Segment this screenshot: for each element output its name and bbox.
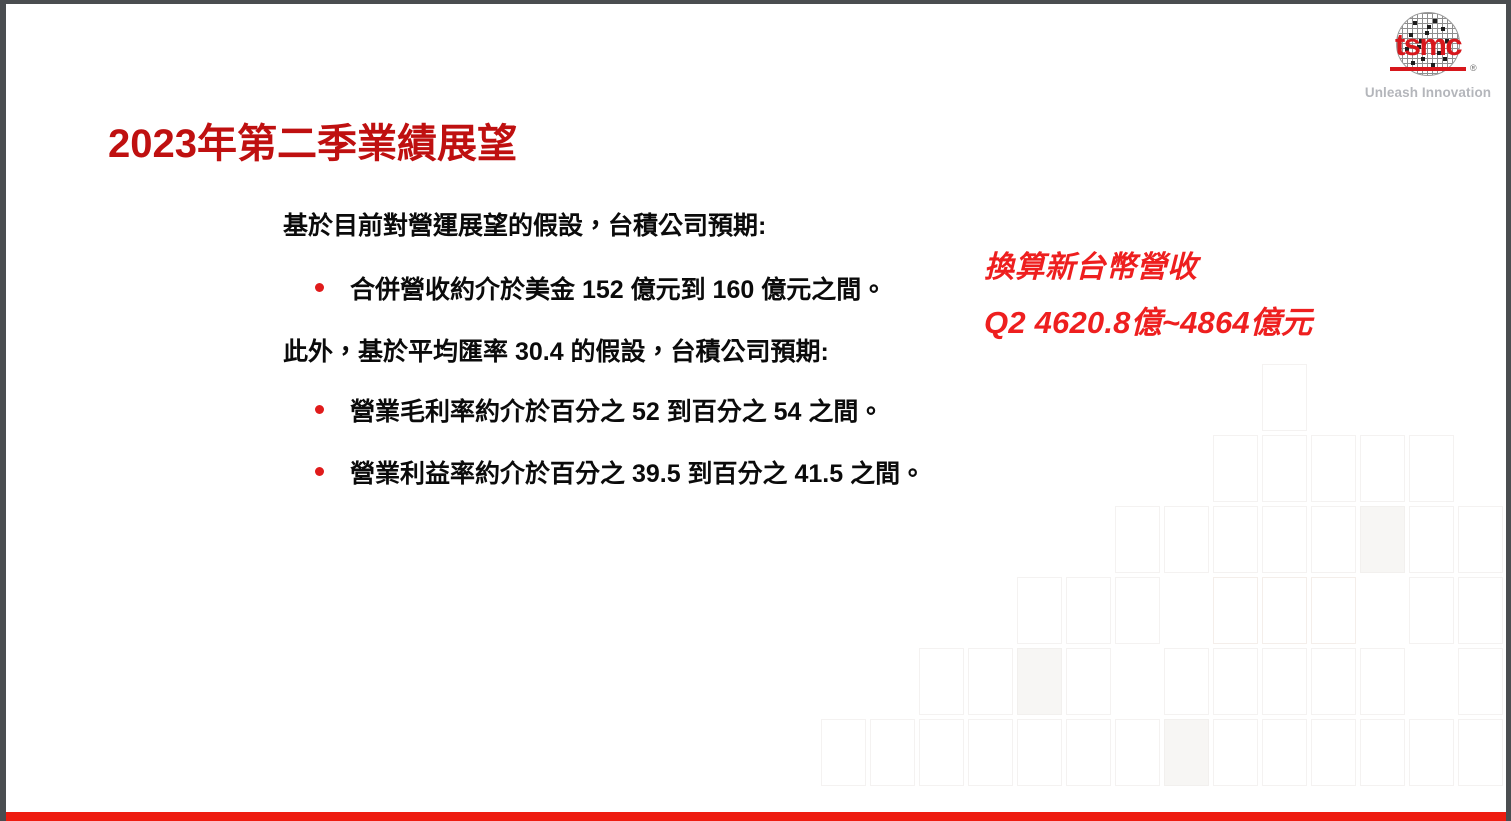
- pattern-cell: [1115, 719, 1160, 786]
- slide-body: 基於目前對營運展望的假設，台積公司預期: 合併營收約介於美金 152 億元到 1…: [283, 209, 983, 491]
- pattern-cell: [1458, 719, 1503, 786]
- pattern-cell: [1458, 648, 1503, 715]
- bullet-dot-icon: [315, 467, 324, 476]
- bullet-item-revenue: 合併營收約介於美金 152 億元到 160 億元之間。: [283, 273, 983, 307]
- logo-underline-rule: [1390, 67, 1466, 71]
- pattern-cell: [1164, 719, 1209, 786]
- pattern-cell: [919, 719, 964, 786]
- presentation-slide: tsmc ® Unleash Innovation 2023年第二季業績展望 基…: [0, 0, 1511, 821]
- pattern-cell: [1213, 435, 1258, 502]
- pattern-cell: [968, 648, 1013, 715]
- intro-paragraph-1: 基於目前對營運展望的假設，台積公司預期:: [283, 209, 983, 243]
- pattern-cell: [1115, 506, 1160, 573]
- bullet-dot-icon: [315, 405, 324, 414]
- pattern-cell: [1311, 435, 1356, 502]
- pattern-cell: [1262, 506, 1307, 573]
- pattern-cell: [1164, 506, 1209, 573]
- wafer-die-mark: [1413, 21, 1417, 25]
- pattern-cell: [1311, 506, 1356, 573]
- pattern-cell: [1409, 506, 1454, 573]
- pattern-cell: [870, 719, 915, 786]
- pattern-cell: [1066, 719, 1111, 786]
- pattern-cell: [1311, 648, 1356, 715]
- pattern-cell: [1066, 577, 1111, 644]
- tsmc-logo: tsmc ® Unleash Innovation: [1362, 12, 1494, 100]
- pattern-cell: [1213, 648, 1258, 715]
- pattern-cell: [968, 719, 1013, 786]
- pattern-cell: [1017, 577, 1062, 644]
- logo-wordmark: tsmc: [1369, 29, 1487, 60]
- annotation-line-1: 換算新台幣營收: [984, 247, 1312, 289]
- bullet-item-label: 營業毛利率約介於百分之 52 到百分之 54 之間。: [350, 395, 883, 429]
- registered-trademark-icon: ®: [1470, 64, 1477, 73]
- bottom-accent-bar: [6, 812, 1506, 821]
- pattern-cell: [1458, 506, 1503, 573]
- logo-tagline: Unleash Innovation: [1362, 85, 1494, 100]
- pattern-cell: [1262, 364, 1307, 431]
- pattern-cell: [1066, 648, 1111, 715]
- pattern-cell: [1409, 719, 1454, 786]
- bullet-dot-icon: [315, 283, 324, 292]
- slide-title: 2023年第二季業績展望: [108, 111, 517, 169]
- annotation-line-2: Q2 4620.8億~4864億元: [984, 302, 1312, 344]
- pattern-cell: [1262, 577, 1307, 644]
- intro-paragraph-2: 此外，基於平均匯率 30.4 的假設，台積公司預期:: [283, 335, 983, 369]
- wafer-die-mark: [1433, 19, 1437, 23]
- pattern-cell: [919, 648, 964, 715]
- pattern-cell: [1262, 648, 1307, 715]
- pattern-cell: [1311, 577, 1356, 644]
- red-annotation-note: 換算新台幣營收 Q2 4620.8億~4864億元: [984, 247, 1312, 344]
- pattern-cell: [1409, 435, 1454, 502]
- pattern-cell: [821, 719, 866, 786]
- bullet-item-operating-margin: 營業利益率約介於百分之 39.5 到百分之 41.5 之間。: [283, 457, 983, 491]
- pattern-cell: [1213, 719, 1258, 786]
- logo-mark: tsmc ®: [1369, 12, 1487, 84]
- pattern-cell: [1017, 719, 1062, 786]
- pattern-cell: [1360, 648, 1405, 715]
- pattern-cell: [1409, 577, 1454, 644]
- pattern-cell: [1115, 577, 1160, 644]
- pattern-cell: [1213, 506, 1258, 573]
- pattern-cell: [1458, 577, 1503, 644]
- pattern-cell: [1213, 577, 1258, 644]
- bullet-item-label: 營業利益率約介於百分之 39.5 到百分之 41.5 之間。: [350, 457, 925, 491]
- pattern-cell: [1360, 435, 1405, 502]
- pattern-cell: [1360, 506, 1405, 573]
- pattern-cell: [1262, 435, 1307, 502]
- pattern-cell: [1164, 648, 1209, 715]
- bullet-item-gross-margin: 營業毛利率約介於百分之 52 到百分之 54 之間。: [283, 395, 983, 429]
- bullet-item-label: 合併營收約介於美金 152 億元到 160 億元之間。: [350, 273, 886, 307]
- pattern-cell: [1311, 719, 1356, 786]
- pattern-cell: [1262, 719, 1307, 786]
- pattern-cell: [1360, 719, 1405, 786]
- pattern-cell: [1017, 648, 1062, 715]
